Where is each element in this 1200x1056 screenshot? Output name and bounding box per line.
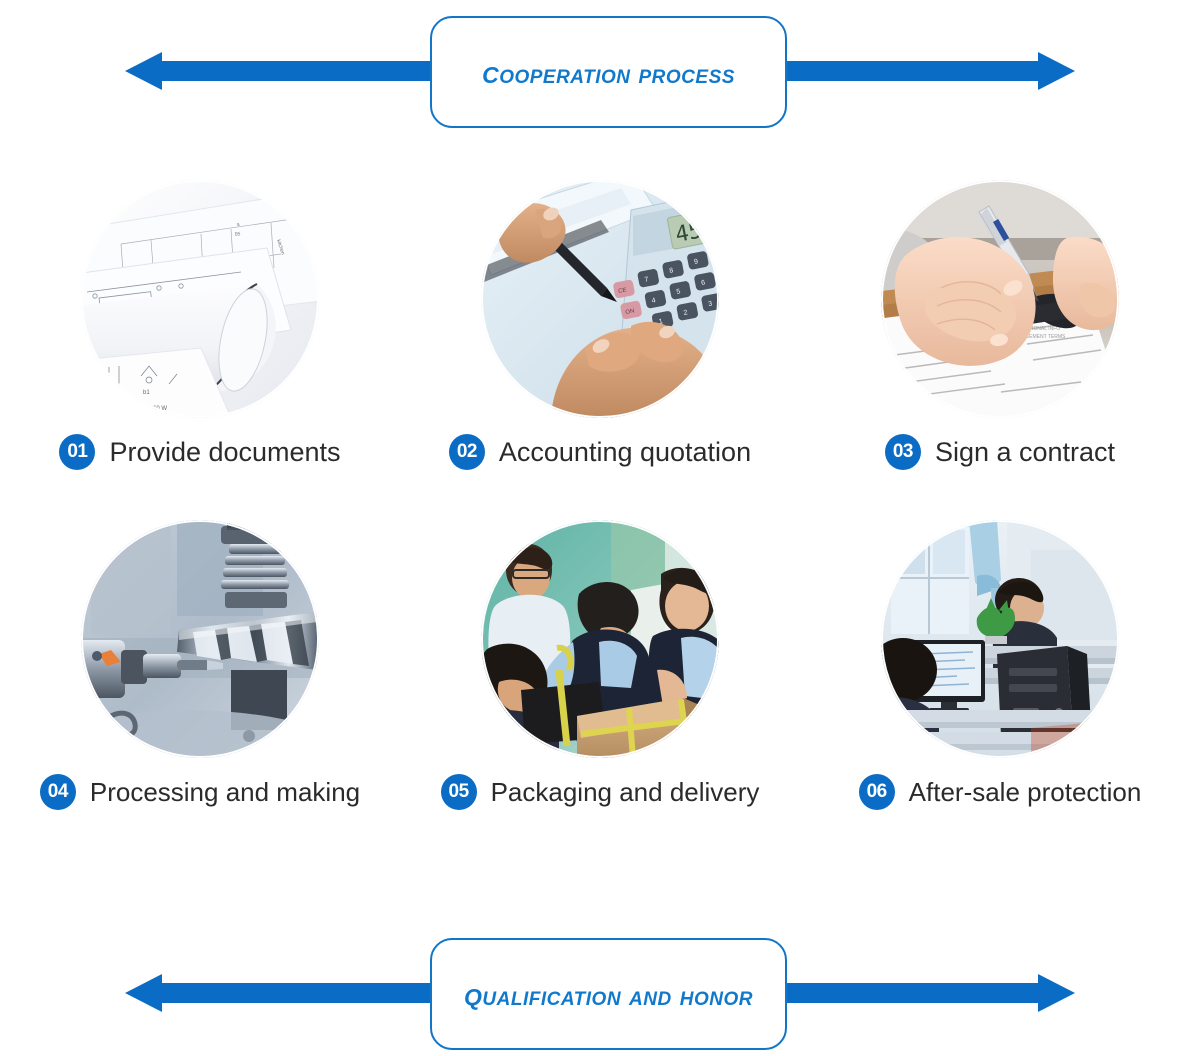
banner-title-box-top: Cooperation process <box>430 16 787 128</box>
step-caption: 06 After-sale protection <box>859 774 1142 810</box>
step-caption: 04 Processing and making <box>40 774 360 810</box>
banner-title-cooperation-process: Cooperation process <box>482 53 735 91</box>
step-number-badge: 02 <box>449 434 485 470</box>
process-steps-grid: a 55 kitchen <box>0 180 1200 840</box>
step-label: Accounting quotation <box>499 437 751 468</box>
steps-row-2: 04 Processing and making <box>0 520 1200 840</box>
workers-packing-box-photo <box>481 520 719 758</box>
banner-cooperation-process: Cooperation process <box>0 8 1200 134</box>
banner-qualification-and-honor: Qualification and honor <box>0 930 1200 1056</box>
hands-calculator-photo: 454 <box>481 180 719 418</box>
step-label: Provide documents <box>109 437 340 468</box>
step-06[interactable]: 06 After-sale protection <box>800 520 1200 840</box>
step-caption: 05 Packaging and delivery <box>441 774 760 810</box>
step-05[interactable]: 05 Packaging and delivery <box>400 520 800 840</box>
rolled-blueprints-photo: a 55 kitchen <box>81 180 319 418</box>
cnc-machining-photo <box>81 520 319 758</box>
step-number-badge: 06 <box>859 774 895 810</box>
step-label: Packaging and delivery <box>491 777 760 808</box>
svg-text:55: 55 <box>234 231 241 238</box>
step-number-badge: 03 <box>885 434 921 470</box>
office-workers-computers-photo <box>881 520 1119 758</box>
step-caption: 03 Sign a contract <box>885 434 1115 470</box>
step-number-badge: 04 <box>40 774 76 810</box>
step-03[interactable]: ADDITIONAL INFO AGREEMENT TERMS <box>800 180 1200 500</box>
svg-text:b1: b1 <box>143 390 150 396</box>
step-label: Processing and making <box>90 777 360 808</box>
steps-row-1: a 55 kitchen <box>0 180 1200 500</box>
step-label: Sign a contract <box>935 437 1115 468</box>
banner-title-qualification-and-honor: Qualification and honor <box>464 975 753 1013</box>
step-caption: 02 Accounting quotation <box>449 434 751 470</box>
step-04[interactable]: 04 Processing and making <box>0 520 400 840</box>
step-number-badge: 01 <box>59 434 95 470</box>
step-label: After-sale protection <box>909 777 1142 808</box>
svg-text:L: L <box>83 376 87 382</box>
signing-contract-photo: ADDITIONAL INFO AGREEMENT TERMS <box>881 180 1119 418</box>
step-01[interactable]: a 55 kitchen <box>0 180 400 500</box>
step-02[interactable]: 454 <box>400 180 800 500</box>
step-number-badge: 05 <box>441 774 477 810</box>
banner-title-box-bottom: Qualification and honor <box>430 938 787 1050</box>
step-caption: 01 Provide documents <box>59 434 340 470</box>
